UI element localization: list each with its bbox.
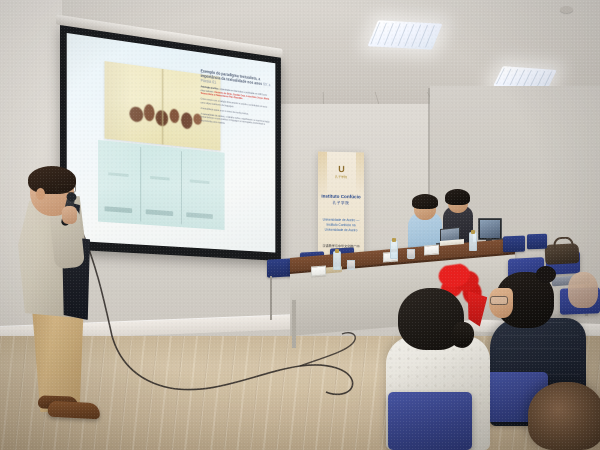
banner-logo-sub: 孔子学院 <box>318 175 364 180</box>
speaker-shoe <box>48 401 101 420</box>
panel-chair-frame <box>270 276 272 320</box>
banner-organization-cn: 孔子学院 <box>318 201 364 207</box>
water-bottle <box>333 251 341 270</box>
projection-screen: Exemplo do paradigma textualista, a impo… <box>60 24 281 261</box>
conference-room-photo: Exemplo do paradigma textualista, a impo… <box>0 0 600 450</box>
panelist-1-hair <box>412 194 438 209</box>
speaker-glasses-icon <box>56 184 76 193</box>
ceiling-light-panel-1 <box>367 20 442 49</box>
banner-logo-glyph: U <box>338 164 344 174</box>
audience-member-balding-head <box>528 382 600 450</box>
slide-book-covers-image <box>98 140 224 230</box>
foreground-chair <box>388 392 472 450</box>
name-card <box>424 244 439 255</box>
slide-text-block: Exemplo do paradigma textualista, a impo… <box>201 68 272 130</box>
drinking-glass <box>407 249 415 259</box>
drinking-glass <box>347 260 355 270</box>
audience-chair-back <box>503 236 525 253</box>
book-cover-3 <box>183 152 220 227</box>
book-cover-1 <box>101 143 141 221</box>
external-monitor <box>478 218 502 240</box>
panelist-2-hair <box>445 189 470 205</box>
audience-member-glasses-icon <box>490 296 508 305</box>
banner-logo-icon: U 孔子学院 <box>318 164 364 180</box>
speaker-ear <box>36 188 45 200</box>
smoke-detector-icon <box>560 6 573 13</box>
water-bottle <box>390 240 398 259</box>
audience-member-puffer-bun <box>536 266 556 283</box>
audience-chair-back <box>527 234 547 250</box>
banner-organization: Instituto Confúcio <box>318 194 364 200</box>
graffiti-lettering <box>127 96 205 135</box>
water-bottle <box>469 232 477 251</box>
presentation-slide: Exemplo do paradigma textualista, a impo… <box>67 33 276 253</box>
audience-member-right-edge <box>568 272 598 308</box>
name-card <box>311 265 326 276</box>
projection-screen-surface: Exemplo do paradigma textualista, a impo… <box>67 33 276 253</box>
shoulder-bag <box>544 243 579 265</box>
book-cover-2 <box>143 148 182 225</box>
banner-subtitle: Universidade de Aveiro — Instituto Confú… <box>322 218 360 233</box>
speaker-hand <box>62 206 77 224</box>
panel-table-leg <box>292 300 296 348</box>
